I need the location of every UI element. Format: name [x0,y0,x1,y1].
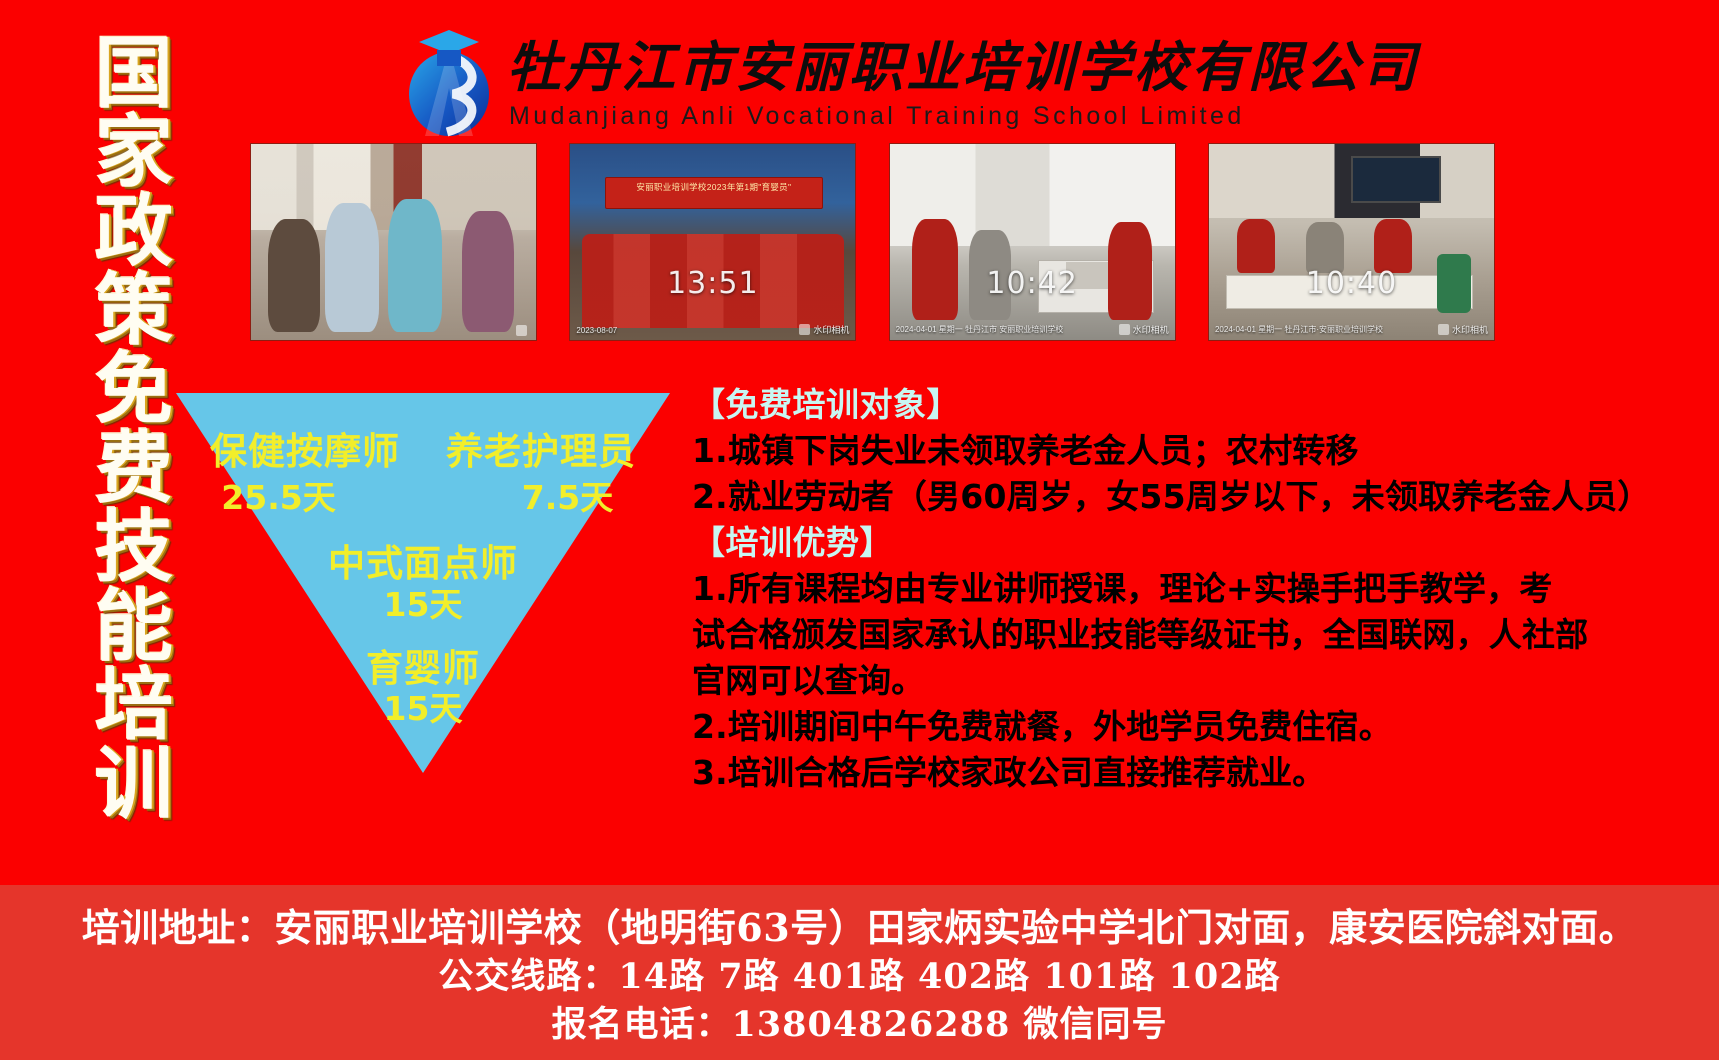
photo-banner: 安丽职业培训学校2023年第1期"育婴员" [605,177,824,208]
course-name-massage: 保健按摩师 [200,421,410,475]
course-days-pastry: 15天 [384,585,463,624]
course-name-elder-care: 养老护理员 [436,421,646,475]
info-item: 3.培训合格后学校家政公司直接推荐就业。 [692,750,1692,796]
triangle-days-row-2: 15天 [176,578,670,626]
photo-image [251,144,536,340]
photo-banner-text: 安丽职业培训学校2023年第1期"育婴员" [606,178,823,192]
course-days-infant-care: 15天 [384,689,463,728]
watermark-badge-icon [799,324,810,335]
company-name-en: Mudanjiang Anli Vocational Training Scho… [509,102,1245,131]
course-triangle: 保健按摩师 养老护理员 25.5天 7.5天 中式面点师 15天 育婴师 15天 [176,393,670,773]
vertical-title-char: 费 [95,429,173,508]
footer: 培训地址：安丽职业培训学校（地明街63号）田家炳实验中学北门对面，康安医院斜对面… [0,885,1719,1060]
photo-image [890,144,1175,340]
poster-root: 国 家 政 策 免 费 技 能 培 训 [0,0,1719,1060]
footer-phone: 报名电话：13804826288 微信同号 [551,1001,1167,1049]
watermark-app-label: 水印相机 [1452,323,1488,336]
company-name-cn: 牡丹江市安丽职业培训学校有限公司 [507,36,1419,98]
info-block: 【免费培训对象】 1.城镇下岗失业未领取养老金人员；农村转移 2.就业劳动者（男… [692,382,1692,796]
info-item: 官网可以查询。 [692,658,1692,704]
photo-classroom-lecture: 10:40 2024-04-01 星期一 牡丹江市·安丽职业培训学校 水印相机 [1208,143,1495,341]
watermark-badge-icon [1438,324,1449,335]
info-heading-free-training-targets: 【免费培训对象】 [692,382,1692,428]
photo-watermark-date: 2023-08-07 [576,326,617,335]
photo-strip: 安丽职业培训学校2023年第1期"育婴员" 13:51 2023-08-07 水… [250,143,1495,343]
vertical-title-char: 国 [95,34,173,113]
photo-watermark-app: 水印相机 [1438,323,1488,336]
watermark-badge-icon [1119,324,1130,335]
vertical-title-char: 培 [95,666,173,745]
footer-address: 培训地址：安丽职业培训学校（地明街63号）田家炳实验中学北门对面，康安医院斜对面… [82,903,1637,953]
footer-bus-routes: 公交线路：14路 7路 401路 402路 101路 102路 [438,953,1280,1001]
info-item: 1.城镇下岗失业未领取养老金人员；农村转移 [692,428,1692,474]
photo-elder-care-practice-room: 10:42 2024-04-01 星期一 牡丹江市 安丽职业培训学校 水印相机 [889,143,1176,341]
triangle-days-row-3: 15天 [176,682,670,730]
triangle-course-row-1: 保健按摩师 养老护理员 [176,421,670,475]
watermark-app-label: 水印相机 [1133,323,1169,336]
vertical-title-char: 技 [95,508,173,587]
photo-watermark-date: 2024-04-01 星期一 牡丹江市 安丽职业培训学校 [896,324,1064,335]
photo-watermark-app: 水印相机 [1119,323,1169,336]
photo-timestamp: 10:42 [986,266,1077,301]
info-item: 2.培训期间中午免费就餐，外地学员免费住宿。 [692,704,1692,750]
school-logo-icon [395,26,503,138]
photo-watermark-app: 水印相机 [799,323,849,336]
course-days-elder-care: 7.5天 [465,471,670,519]
photo-timestamp: 10:40 [1306,266,1397,301]
vertical-title-char: 能 [95,587,173,666]
watermark-badge-icon [516,325,527,336]
photo-group-photo-with-banner: 安丽职业培训学校2023年第1期"育婴员" 13:51 2023-08-07 水… [569,143,856,341]
info-item: 试合格颁发国家承认的职业技能等级证书，全国联网，人社部 [692,612,1692,658]
info-heading-training-advantages: 【培训优势】 [692,520,1692,566]
vertical-title-char: 策 [95,271,173,350]
watermark-app-label: 水印相机 [813,323,849,336]
photo-timestamp: 13:51 [667,266,758,301]
vertical-title-char: 政 [95,192,173,271]
info-item: 1.所有课程均由专业讲师授课，理论+实操手把手教学，考 [692,566,1692,612]
photo-pastry-kitchen-class [250,143,537,341]
photo-image: 安丽职业培训学校2023年第1期"育婴员" [570,144,855,340]
photo-watermark-app [516,325,530,336]
header: 牡丹江市安丽职业培训学校有限公司 Mudanjiang Anli Vocatio… [395,18,1295,138]
vertical-title-char: 免 [95,350,173,429]
photo-watermark-date: 2024-04-01 星期一 牡丹江市·安丽职业培训学校 [1215,324,1383,335]
photo-image [1209,144,1494,340]
course-days-massage: 25.5天 [176,471,381,519]
triangle-days-row-1: 25.5天 7.5天 [176,471,670,519]
vertical-title-char: 家 [95,113,173,192]
info-item: 2.就业劳动者（男60周岁，女55周岁以下，未领取养老金人员） [692,474,1692,520]
vertical-title-char: 训 [95,745,173,824]
